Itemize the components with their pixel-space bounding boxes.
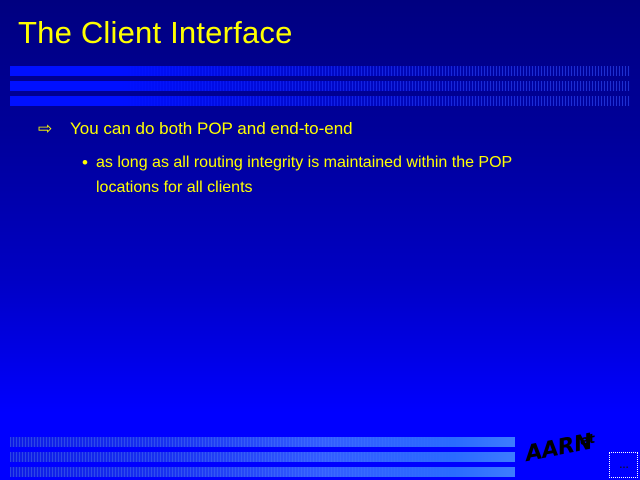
bottom-decor-bar-3 [10, 467, 515, 477]
bullet-item-level2: • as long as all routing integrity is ma… [0, 150, 640, 200]
top-decor-bar-2 [10, 81, 630, 91]
hollow-right-arrow-icon: ⇨ [38, 116, 70, 142]
bullet-level2-text: as long as all routing integrity is main… [96, 150, 568, 200]
top-decor-bar-1 [10, 66, 630, 76]
slide-body: ⇨ You can do both POP and end-to-end • a… [0, 116, 640, 200]
aarnet-logo: AARN et [528, 432, 604, 466]
slide-canvas: The Client Interface ⇨ You can do both P… [0, 0, 640, 480]
aarnet-logo-suffix-text: et [579, 432, 597, 450]
page-number-text: … [619, 460, 628, 471]
slide-title: The Client Interface [18, 14, 293, 52]
page-number-placeholder: … [609, 452, 638, 478]
top-decor-bar-3 [10, 96, 630, 106]
bullet-level1-text: You can do both POP and end-to-end [70, 116, 640, 142]
round-bullet-icon: • [82, 150, 96, 175]
bottom-decor-bar-2 [10, 452, 515, 462]
bottom-decor-bar-1 [10, 437, 515, 447]
bullet-item-level1: ⇨ You can do both POP and end-to-end [0, 116, 640, 142]
